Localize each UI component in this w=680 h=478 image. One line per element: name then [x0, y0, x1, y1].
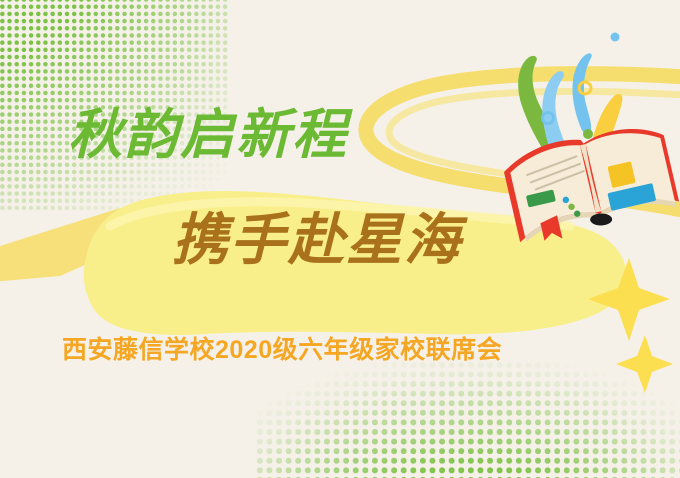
- paint-splash-blue-small-icon: [542, 71, 574, 188]
- paint-splash-yellow-icon: [590, 94, 623, 166]
- splash-ring-blue-icon: [543, 113, 554, 124]
- splash-dot-blue-icon: [611, 33, 620, 42]
- blob-left-tail-icon: [0, 208, 150, 282]
- splash-dot-green-icon: [583, 129, 593, 139]
- sparkle-small-icon: [616, 335, 673, 393]
- yellow-ribbon-swoosh-icon: [366, 74, 680, 214]
- paint-splash-blue-large-icon: [572, 53, 591, 134]
- headline-line-1: 秋韵启新程: [68, 108, 348, 162]
- halftone-dots-bottom-icon: [255, 360, 680, 478]
- headline-line-2: 携手赴星海: [172, 212, 462, 268]
- sparkle-large-icon: [588, 258, 670, 341]
- poster-subtitle: 西安藤信学校2020级六年级家校联席会: [62, 338, 502, 363]
- paint-splash-green-icon: [518, 56, 558, 160]
- poster-canvas: 秋韵启新程 携手赴星海 西安藤信学校2020级六年级家校联席会: [0, 0, 680, 478]
- splash-ring-yellow-icon: [579, 82, 591, 94]
- open-book-icon: [500, 118, 680, 248]
- paint-splash-group: [518, 33, 622, 189]
